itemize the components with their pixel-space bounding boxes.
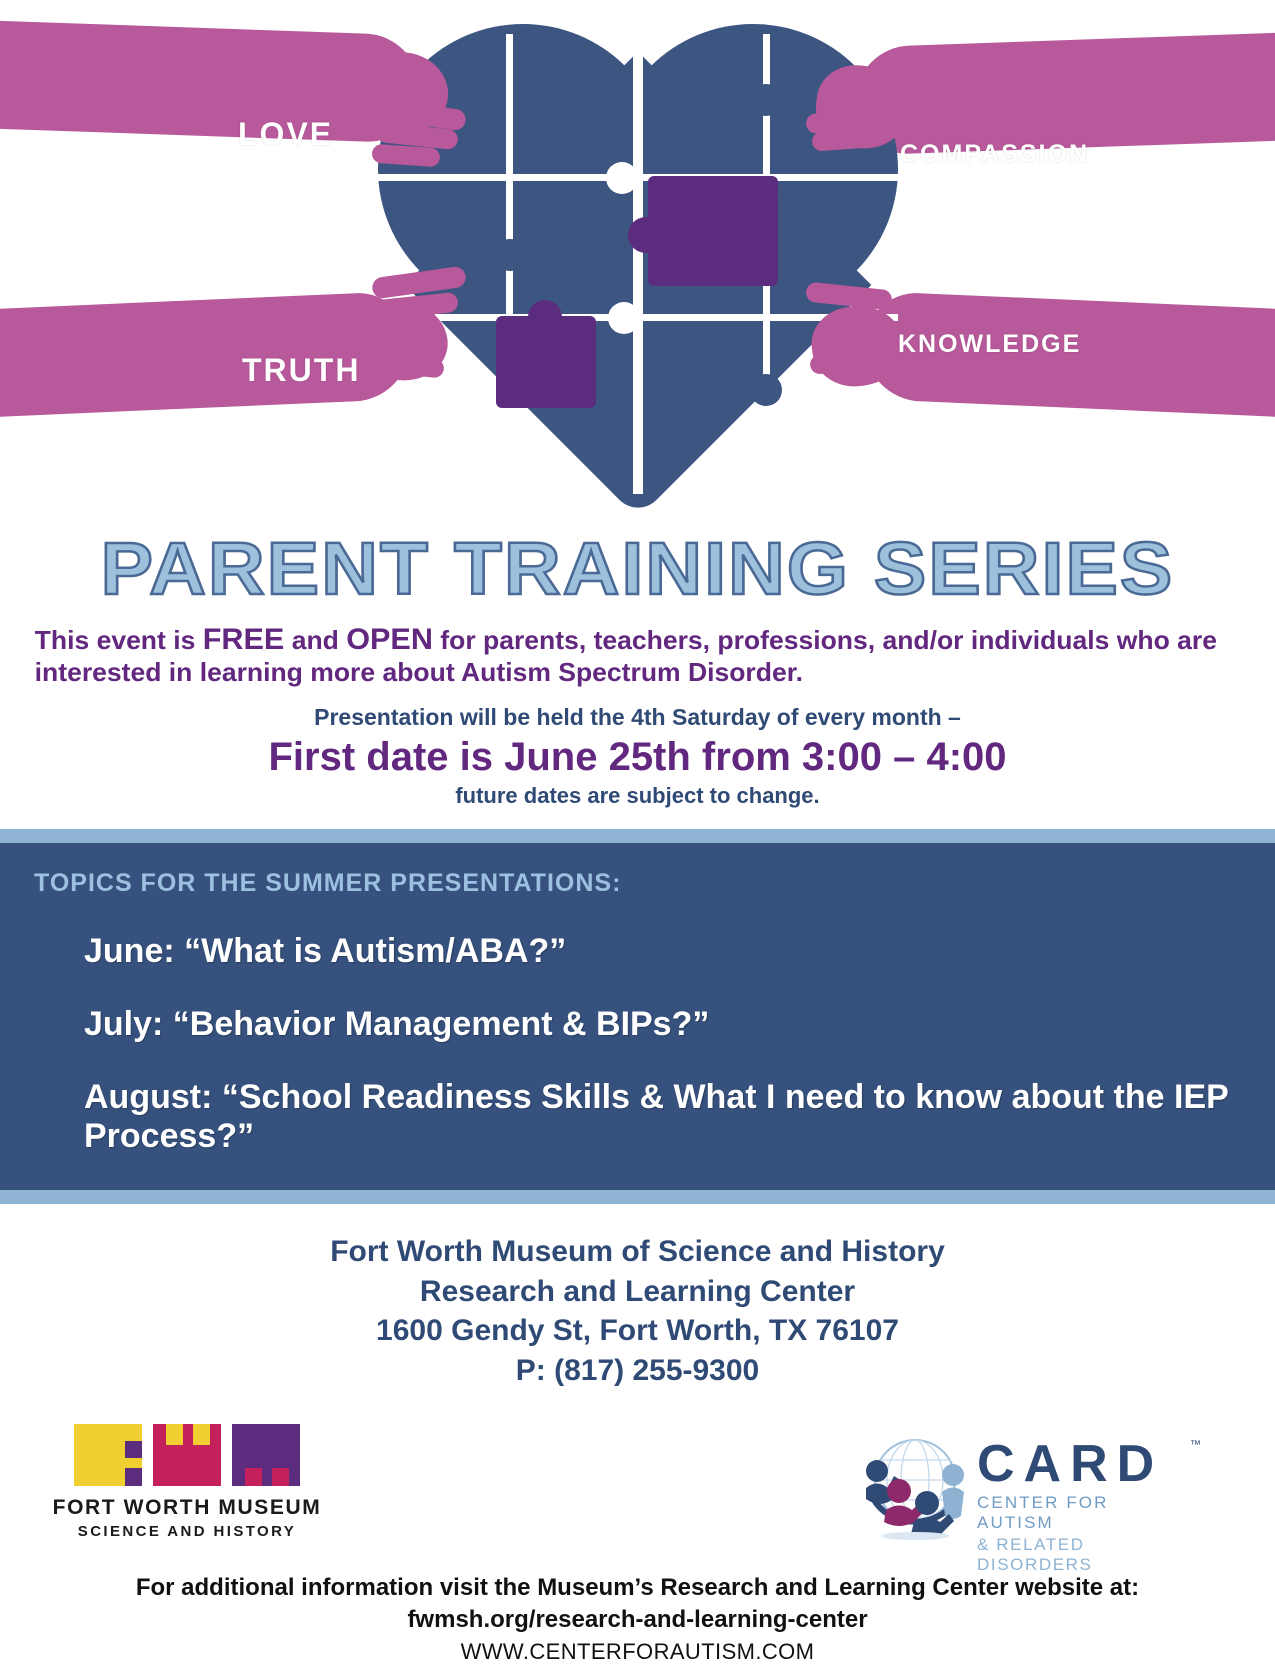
puzzle-knob-5 <box>750 374 782 406</box>
hero-artwork: LOVE TRUTH COMPASSION KNOWLEDGE <box>0 0 1275 520</box>
fwm-logo-title: FORT WORTH MUSEUM <box>52 1496 322 1520</box>
fwm-mark-w-icon <box>153 1424 221 1486</box>
fwm-logo-subtitle: SCIENCE AND HISTORY <box>52 1523 322 1540</box>
topics-band: TOPICS FOR THE SUMMER PRESENTATIONS: Jun… <box>0 843 1275 1190</box>
heart-center-split <box>633 24 643 494</box>
fort-worth-museum-logo: FORT WORTH MUSEUM SCIENCE AND HISTORY <box>52 1424 322 1540</box>
hero-word-truth: TRUTH <box>242 352 360 389</box>
topic-item-july: July: “Behavior Management & BIPs?” <box>0 1005 1275 1044</box>
fwm-mark-m-icon <box>232 1424 300 1486</box>
fwm-logo-marks <box>52 1424 322 1486</box>
hero-word-love: LOVE <box>238 116 333 153</box>
venue-address: 1600 Gendy St, Fort Worth, TX 76107 <box>0 1311 1275 1351</box>
card-logo-word: CARD ™ <box>977 1438 1185 1490</box>
arm-right-upper <box>855 32 1275 155</box>
topic-item-june: June: “What is Autism/ABA?” <box>0 932 1275 971</box>
venue-block: Fort Worth Museum of Science and History… <box>0 1232 1275 1390</box>
intro-free: FREE <box>203 623 285 656</box>
puzzle-piece-purple-upper <box>648 176 778 286</box>
footer-block: For additional information visit the Mus… <box>0 1574 1275 1665</box>
hero-word-compassion: COMPASSION <box>900 140 1089 169</box>
schedule-first-date: First date is June 25th from 3:00 – 4:00 <box>0 735 1275 779</box>
page-title: PARENT TRAINING SERIES <box>0 514 1275 606</box>
puzzle-knob-3 <box>750 84 782 116</box>
card-logo-acronym: CARD <box>977 1435 1163 1493</box>
card-logo-text: CARD ™ CENTER FOR AUTISM & RELATED DISOR… <box>977 1438 1185 1575</box>
intro-part-2: and <box>284 625 346 655</box>
topic-item-august: August: “School Readiness Skills & What … <box>0 1078 1275 1156</box>
venue-museum: Fort Worth Museum of Science and History <box>0 1232 1275 1272</box>
hero-word-knowledge: KNOWLEDGE <box>898 330 1081 359</box>
schedule-block: Presentation will be held the 4th Saturd… <box>0 704 1275 809</box>
band-top-rule <box>0 829 1275 843</box>
intro-open: OPEN <box>346 623 433 656</box>
schedule-disclaimer: future dates are subject to change. <box>0 783 1275 809</box>
puzzle-knob-2 <box>494 239 526 271</box>
schedule-frequency: Presentation will be held the 4th Saturd… <box>0 704 1275 731</box>
band-bottom-rule <box>0 1190 1275 1204</box>
puzzle-piece-purple-lower-knob <box>528 300 562 334</box>
card-logo: CARD ™ CENTER FOR AUTISM & RELATED DISOR… <box>855 1416 1185 1556</box>
footer-museum-url[interactable]: fwmsh.org/research-and-learning-center <box>0 1606 1275 1634</box>
fwm-mark-f-icon <box>74 1424 142 1486</box>
footer-info-line: For additional information visit the Mus… <box>0 1574 1275 1602</box>
card-logo-sub1: CENTER FOR AUTISM <box>977 1493 1185 1533</box>
venue-phone: P: (817) 255‑9300 <box>0 1351 1275 1391</box>
card-globe-people-icon <box>855 1428 975 1543</box>
puzzle-piece-purple-upper-knob <box>628 217 664 253</box>
logo-row: FORT WORTH MUSEUM SCIENCE AND HISTORY <box>0 1402 1275 1572</box>
footer-card-url[interactable]: WWW.CENTERFORAUTISM.COM <box>0 1639 1275 1665</box>
topics-label: TOPICS FOR THE SUMMER PRESENTATIONS: <box>0 869 1275 898</box>
venue-center: Research and Learning Center <box>0 1272 1275 1312</box>
poster-root: LOVE TRUTH COMPASSION KNOWLEDGE PARENT T… <box>0 0 1275 1650</box>
card-logo-sub2: & RELATED DISORDERS <box>977 1535 1185 1575</box>
puzzle-heart-illustration: LOVE TRUTH COMPASSION KNOWLEDGE <box>0 0 1275 520</box>
intro-paragraph: This event is FREE and OPEN for parents,… <box>0 606 1275 688</box>
intro-part-1: This event is <box>35 625 203 655</box>
card-trademark-icon: ™ <box>1190 1440 1201 1451</box>
